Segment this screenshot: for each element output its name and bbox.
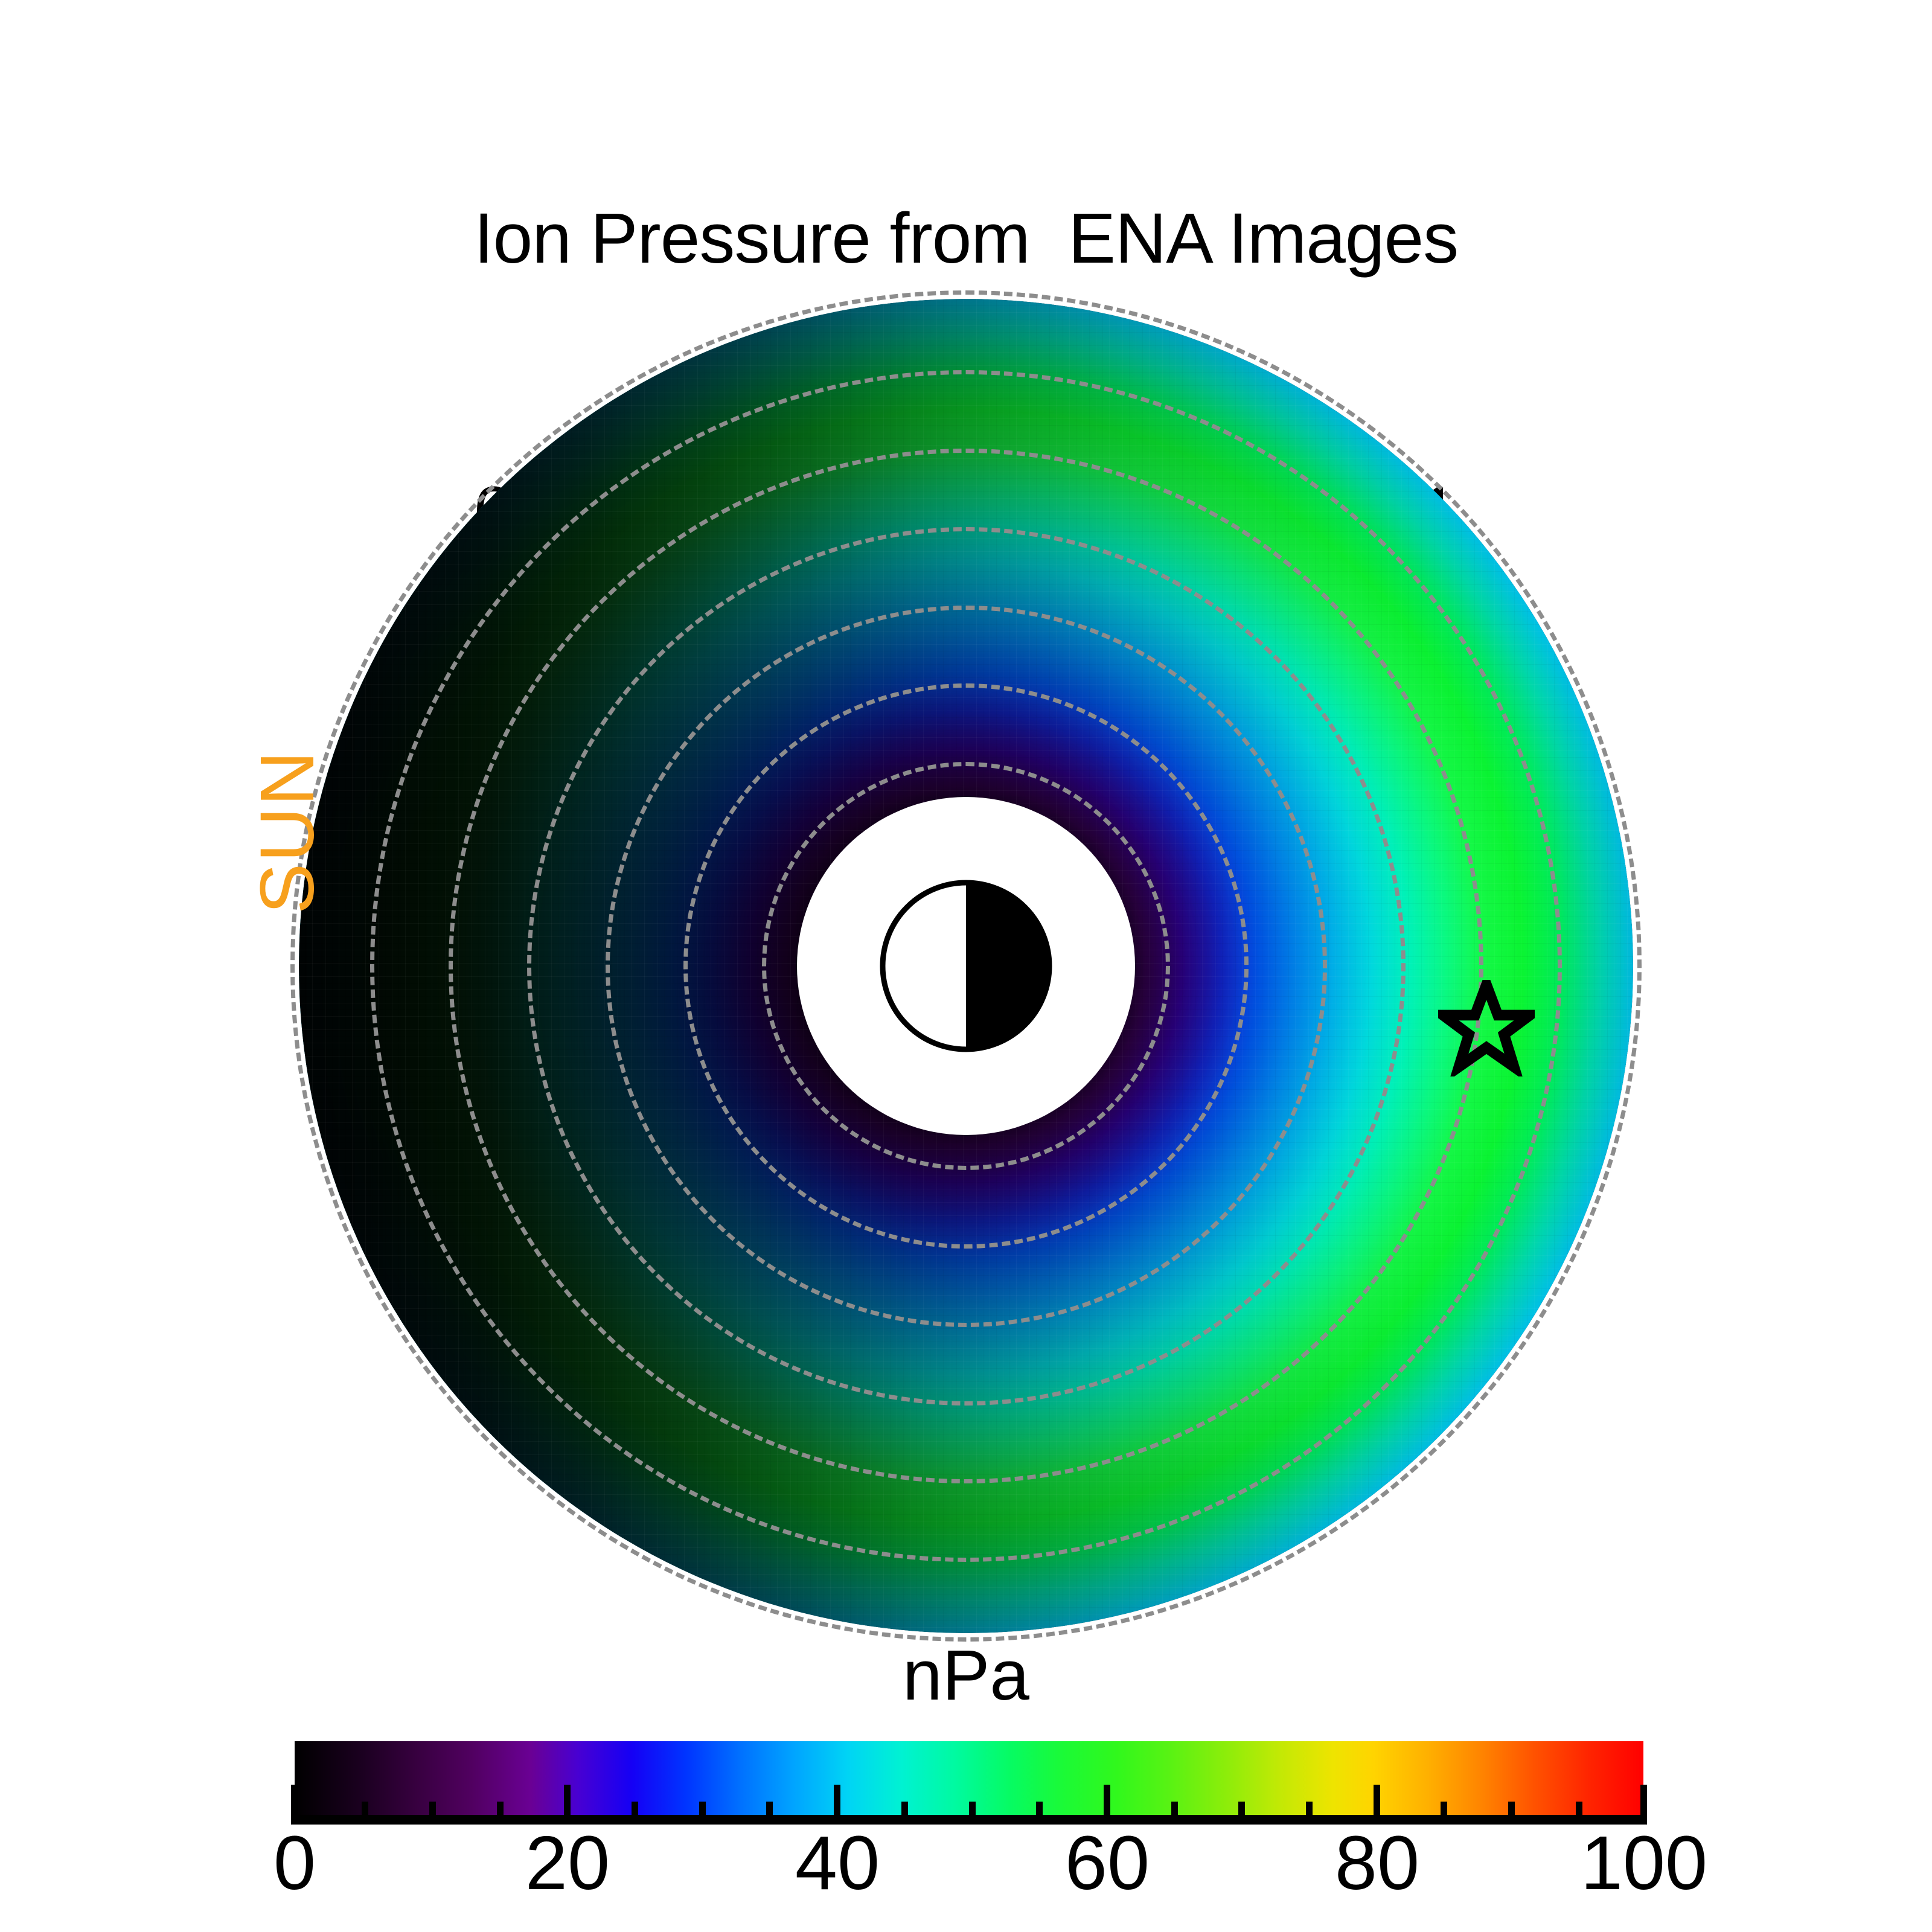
colorbar-tick-15 [497,1802,504,1825]
colorbar-tick-10 [429,1802,436,1825]
colorbar-label-100: 100 [1581,1823,1707,1903]
colorbar-tick-60 [1104,1785,1110,1825]
colorbar-tick-85 [1441,1802,1447,1825]
ion-pressure-figure: Ion Pressure from ENA Images 02Oct2013, … [0,0,1932,1932]
sun-direction-label: SUN [239,651,336,1013]
colorbar-tick-100 [1640,1785,1647,1825]
colorbar-tick-80 [1374,1785,1380,1825]
colorbar-tick-90 [1508,1802,1515,1825]
colorbar-tick-65 [1171,1802,1178,1825]
colorbar-tick-45 [901,1802,908,1825]
colorbar-tick-30 [699,1802,706,1825]
colorbar-tick-35 [766,1802,773,1825]
colorbar[interactable] [295,1741,1643,1815]
colorbar-tick-5 [362,1802,368,1825]
colorbar-tick-75 [1306,1802,1313,1825]
colorbar-axis-title: nPa [0,1640,1932,1711]
colorbar-label-60: 60 [1065,1823,1150,1903]
colorbar-label-20: 20 [525,1823,610,1903]
spacecraft-footprint-star-icon[interactable] [1438,980,1535,1076]
colorbar-tick-25 [632,1802,638,1825]
colorbar-tick-0 [291,1785,298,1825]
colorbar-tick-50 [969,1802,976,1825]
colorbar-tick-40 [834,1785,840,1825]
colorbar-tick-70 [1238,1802,1245,1825]
colorbar-tick-55 [1036,1802,1043,1825]
colorbar-label-40: 40 [795,1823,880,1903]
colorbar-label-80: 80 [1335,1823,1419,1903]
title-line-1: Ion Pressure from ENA Images [0,193,1932,284]
colorbar-label-0: 0 [273,1823,316,1903]
earth-icon [878,878,1054,1054]
colorbar-tick-20 [564,1785,571,1825]
colorbar-tick-labels: 0 20 40 60 80 100 [295,1823,1643,1914]
